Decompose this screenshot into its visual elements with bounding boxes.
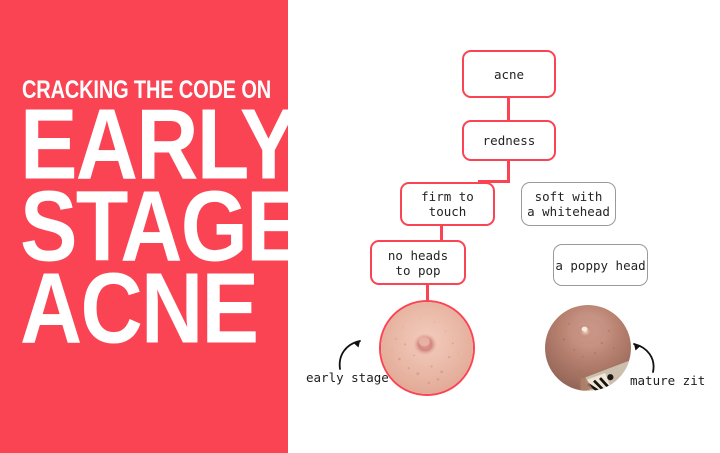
infographic-canvas: CRACKING THE CODE ON EARLY STAGE ACNE ac… <box>0 0 720 453</box>
node-a-poppy-head[interactable]: a poppy head <box>553 244 648 286</box>
early-stage-label: early stage <box>306 370 389 385</box>
connector-firm-to-noheads <box>440 225 443 241</box>
connector-redness-down <box>507 160 510 182</box>
connector-acne-to-redness <box>507 97 510 121</box>
node-no-heads-to-pop[interactable]: no heads to pop <box>370 240 466 285</box>
early-stage-photo <box>379 300 475 396</box>
node-redness[interactable]: redness <box>462 120 556 161</box>
title-panel: CRACKING THE CODE ON EARLY STAGE ACNE <box>0 0 288 453</box>
headline-line-3: ACNE <box>20 268 257 348</box>
node-soft-with-whitehead[interactable]: soft with a whitehead <box>521 182 616 226</box>
node-firm-to-touch[interactable]: firm to touch <box>400 182 495 226</box>
early-stage-arrow-icon <box>336 337 370 371</box>
mature-zit-label: mature zit <box>630 373 705 388</box>
mature-zit-photo <box>545 305 631 391</box>
mature-zit-arrow-icon <box>625 340 659 374</box>
node-acne[interactable]: acne <box>462 50 556 98</box>
